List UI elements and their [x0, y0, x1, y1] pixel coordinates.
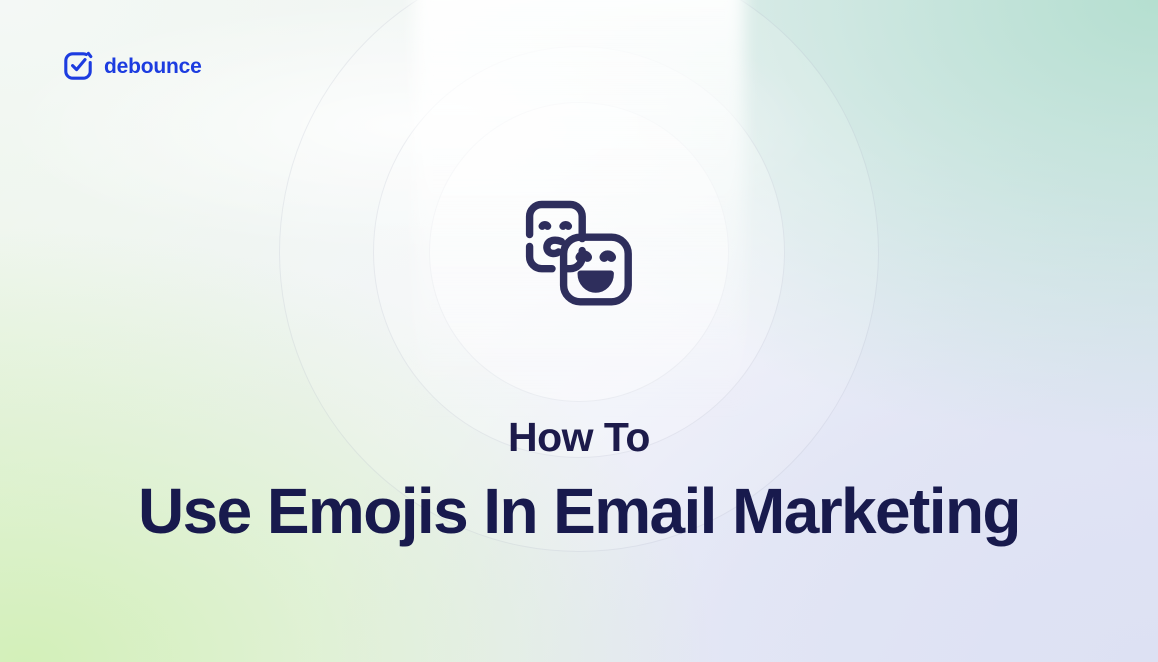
brand-logo[interactable]: debounce	[62, 50, 202, 82]
cover-canvas: debounce How	[0, 0, 1158, 662]
kicker-text: How To	[0, 415, 1158, 461]
two-emoji-masks-icon	[525, 198, 633, 306]
headline-text: Use Emojis In Email Marketing	[0, 477, 1158, 546]
title-block: How To Use Emojis In Email Marketing	[0, 415, 1158, 546]
brand-wordmark: debounce	[104, 56, 202, 77]
check-badge-icon	[62, 50, 94, 82]
